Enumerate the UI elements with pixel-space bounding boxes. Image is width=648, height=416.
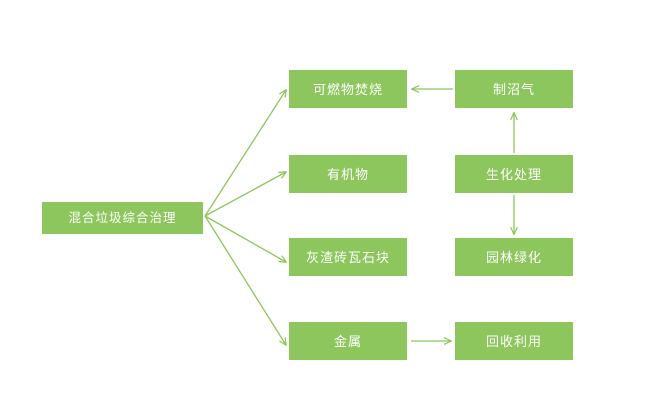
node-biochemical-treatment[interactable]: 生化处理 bbox=[455, 155, 573, 193]
node-organic-matter[interactable]: 有机物 bbox=[289, 155, 407, 193]
node-ash-bricks-tiles-stones[interactable]: 灰渣砖瓦石块 bbox=[289, 238, 407, 276]
node-metal[interactable]: 金属 bbox=[289, 322, 407, 360]
node-recycling-reuse[interactable]: 回收利用 bbox=[455, 322, 573, 360]
edge-root-to-combustibles bbox=[205, 90, 286, 216]
diagram-canvas: 混合垃圾综合治理 可燃物焚烧 有机物 灰渣砖瓦石块 金属 制沼气 生化处理 园林… bbox=[0, 0, 648, 416]
node-combustible-incineration[interactable]: 可燃物焚烧 bbox=[289, 70, 407, 108]
edge-root-to-metal bbox=[205, 216, 286, 345]
node-biogas-production[interactable]: 制沼气 bbox=[455, 70, 573, 108]
node-mixed-waste-management[interactable]: 混合垃圾综合治理 bbox=[42, 202, 203, 234]
edge-root-to-ash-bricks bbox=[205, 216, 286, 262]
edge-root-to-organics bbox=[205, 172, 286, 216]
node-landscaping[interactable]: 园林绿化 bbox=[455, 238, 573, 276]
